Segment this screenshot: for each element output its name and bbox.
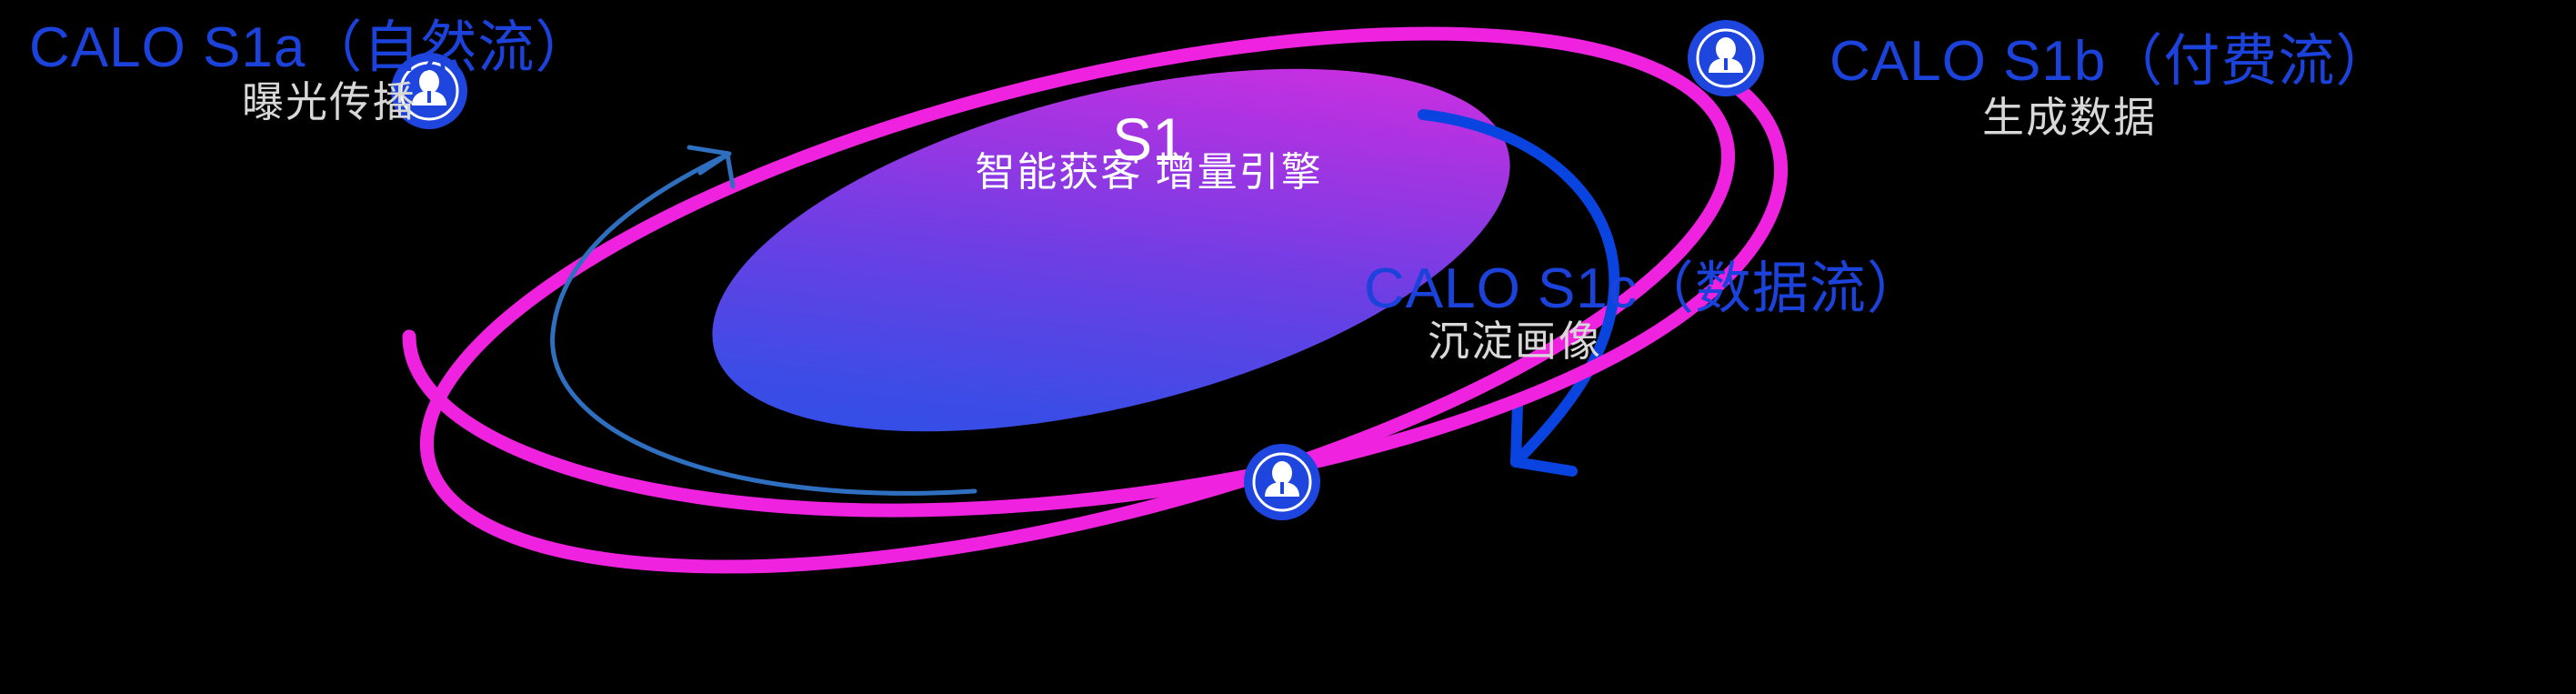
core-subtitle: 智能获客 增量引擎 (0, 153, 2437, 193)
diagram-canvas: CALO S1a（自然流） 曝光传播 CALO S1b（付费流） 生成数据 CA… (0, 0, 2576, 694)
node-s1c[interactable] (1244, 444, 1320, 520)
node-s1b[interactable] (1688, 20, 1764, 96)
flow-s1a-title: CALO S1a（自然流） (29, 20, 592, 76)
flow-s1c-subtitle: 沉淀画像 (1428, 320, 1602, 362)
flow-s1c-title: CALO S1c（数据流） (1364, 261, 1924, 317)
flow-s1b-title: CALO S1b（付费流） (1829, 34, 2392, 90)
